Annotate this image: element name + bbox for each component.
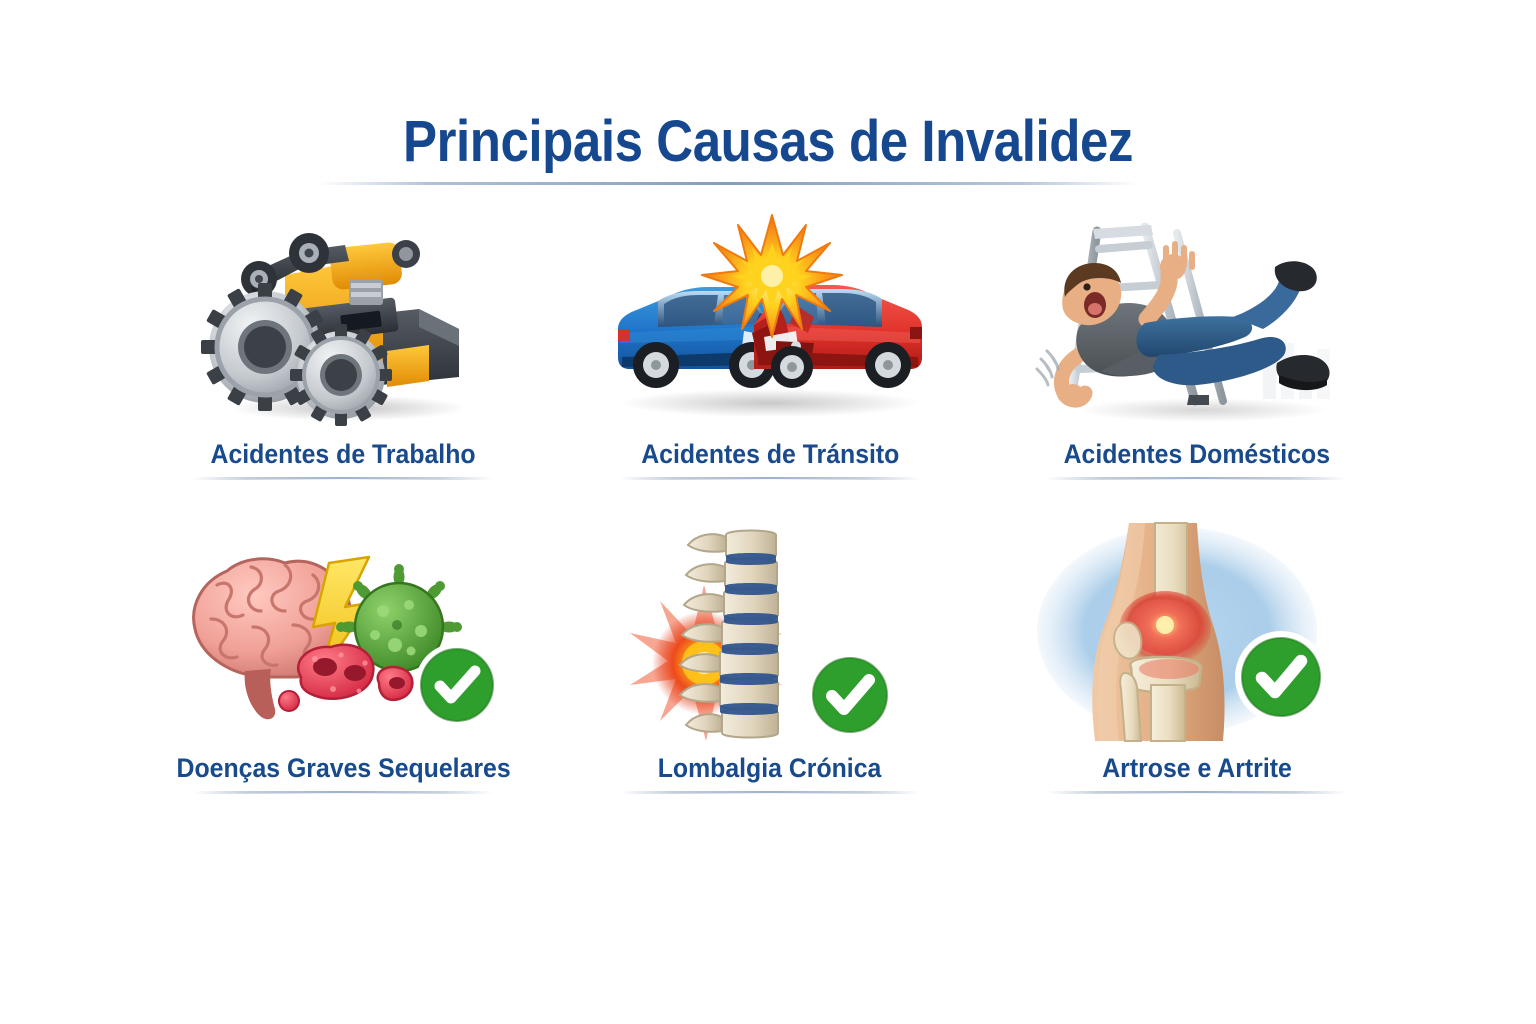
card-acidentes-de-trabalho[interactable]: Acidentes de Trabalho <box>130 205 557 505</box>
card-label: Acidentes de Trabalho <box>211 439 476 470</box>
causes-row-2: Doenças Graves Sequelares <box>130 519 1410 819</box>
green-check-badge <box>806 651 894 739</box>
card-label-underline <box>193 791 493 794</box>
card-label-underline <box>1047 477 1347 480</box>
card-doencas-graves-sequelares[interactable]: Doenças Graves Sequelares <box>130 519 557 819</box>
card-lombalgia-cronica[interactable]: Lombalgia Crónica <box>557 519 984 819</box>
page-title: Principais Causas de Invalidez <box>92 108 1444 175</box>
brain-virus-tumor-icon <box>173 519 513 747</box>
green-check-badge <box>1235 631 1327 723</box>
page-title-block: Principais Causas de Invalidez <box>0 108 1536 175</box>
causes-row-1: Acidentes de Trabalho <box>130 205 1410 505</box>
card-label: Doenças Graves Sequelares <box>176 753 510 784</box>
green-check-badge <box>415 643 499 727</box>
car-crash-icon <box>600 205 940 433</box>
card-acidentes-de-transito[interactable]: Acidentes de Tránsito <box>557 205 984 505</box>
card-label: Lombalgia Crónica <box>658 753 882 784</box>
causes-grid: Acidentes de Trabalho <box>130 205 1410 819</box>
card-artrose-e-artrite[interactable]: Artrose e Artrite <box>983 519 1410 819</box>
title-underline <box>318 182 1138 185</box>
card-label-underline <box>620 791 920 794</box>
industrial-machine-gears-icon <box>173 205 513 433</box>
knee-joint-arthritis-icon <box>1027 519 1367 747</box>
card-label-underline <box>1047 791 1347 794</box>
card-label-underline <box>620 477 920 480</box>
card-label-underline <box>193 477 493 480</box>
man-falling-from-ladder-icon <box>1027 205 1367 433</box>
infographic-page: Principais Causas de Invalidez <box>0 0 1536 1024</box>
card-acidentes-domesticos[interactable]: Acidentes Domésticos <box>983 205 1410 505</box>
card-label: Acidentes de Tránsito <box>641 439 899 470</box>
card-label: Artrose e Artrite <box>1102 753 1292 784</box>
card-label: Acidentes Domésticos <box>1063 439 1329 470</box>
spine-lower-back-pain-icon <box>600 519 940 747</box>
